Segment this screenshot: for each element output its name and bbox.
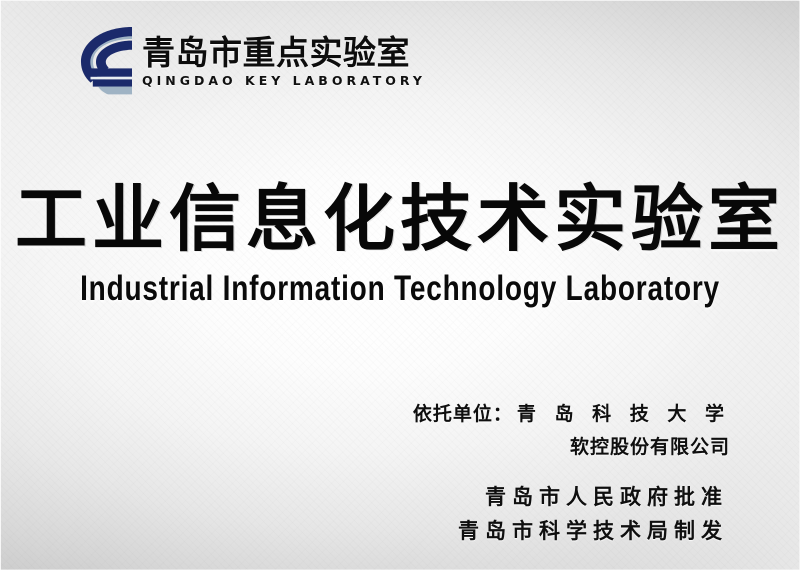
logo-chinese-name: 青岛市重点实验室 [142, 36, 426, 71]
logo-lockup: 青岛市重点实验室 QINGDAO KEY LABORATORY [76, 27, 426, 97]
credits-spacer [413, 463, 730, 480]
credits-block: 依托单位：青 岛 科 技 大 学 软控股份有限公司 青岛市人民政府批准 青岛市科… [413, 398, 730, 548]
page-title-chinese: 工业信息化技术实验室 [0, 182, 800, 258]
title-block: 工业信息化技术实验室 Industrial Information Techno… [0, 182, 800, 308]
logo-text-block: 青岛市重点实验室 QINGDAO KEY LABORATORY [142, 27, 426, 88]
page-title-english: Industrial Information Technology Labora… [80, 270, 720, 309]
authority-issuer-line: 青岛市科学技术局制发 [413, 514, 730, 548]
authority-approval-line: 青岛市人民政府批准 [413, 480, 730, 514]
affiliation-primary-line: 依托单位：青 岛 科 技 大 学 [413, 398, 730, 431]
plaque-panel: 青岛市重点实验室 QINGDAO KEY LABORATORY 工业信息化技术实… [0, 0, 800, 570]
affiliation-secondary-line: 软控股份有限公司 [413, 431, 730, 464]
logo-english-name: QINGDAO KEY LABORATORY [142, 73, 426, 88]
qingdao-key-laboratory-swoosh-icon [76, 27, 132, 97]
affiliation-label: 依托单位： [413, 403, 513, 425]
affiliation-primary-value: 青 岛 科 技 大 学 [517, 403, 730, 425]
